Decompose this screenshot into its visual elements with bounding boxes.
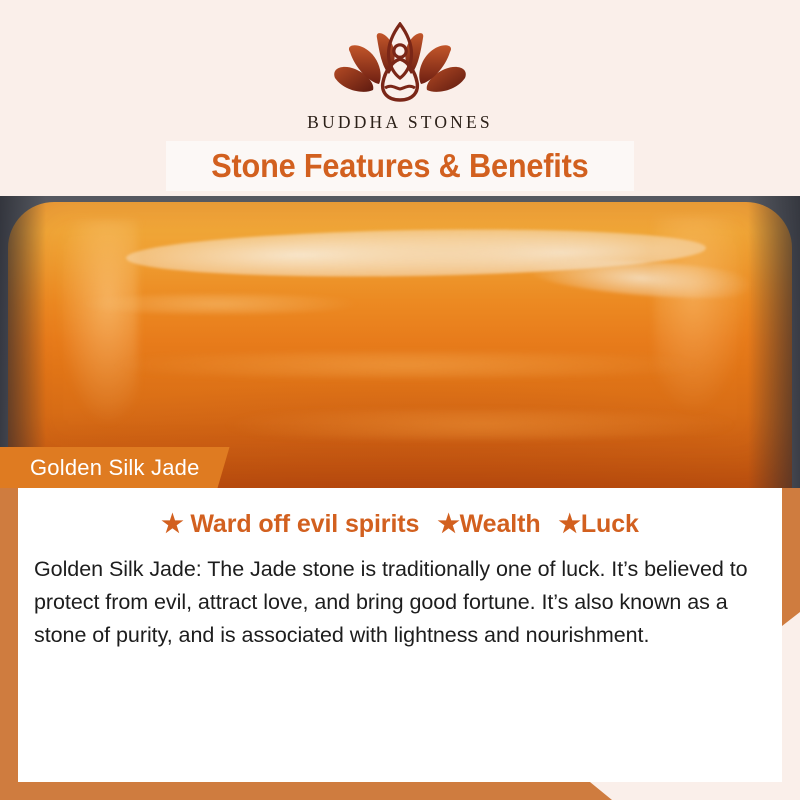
lotus-meditation-logo-icon: [325, 22, 475, 108]
infographic-page: BUDDHA STONES Stone Features & Benefits …: [0, 0, 800, 800]
frame-right-accent-tail: [782, 612, 800, 626]
stone-name-tag: Golden Silk Jade: [0, 447, 230, 488]
benefit-item-1: ★ Ward off evil spirits: [161, 510, 419, 539]
stone-photo: [0, 196, 800, 488]
stone-name-label: Golden Silk Jade: [30, 455, 200, 481]
benefit-item-2: ★Wealth: [437, 510, 540, 539]
benefit-label-2: Wealth: [460, 510, 541, 538]
star-icon: ★: [559, 510, 581, 538]
frame-bottom-accent: [0, 782, 800, 800]
stone-banding-lower: [128, 410, 768, 440]
stone-description: Golden Silk Jade: The Jade stone is trad…: [18, 539, 782, 652]
stone-banding-mid: [38, 352, 778, 378]
star-icon: ★: [437, 510, 459, 538]
photo-vignette-left: [0, 196, 46, 488]
title-banner: Stone Features & Benefits: [166, 141, 634, 191]
brand-name: BUDDHA STONES: [0, 112, 800, 133]
stone-body: [8, 202, 792, 488]
benefit-label-1: Ward off evil spirits: [190, 510, 419, 538]
benefit-item-3: ★Luck: [559, 510, 639, 539]
benefit-label-3: Luck: [581, 510, 639, 538]
photo-vignette-right: [748, 196, 800, 488]
star-icon: ★: [161, 510, 183, 538]
brand-logo: BUDDHA STONES: [0, 22, 800, 133]
stone-silk-streak-tertiary: [68, 294, 368, 314]
benefits-list: ★ Ward off evil spirits★Wealth★Luck: [18, 488, 782, 539]
page-title: Stone Features & Benefits: [211, 147, 588, 185]
content-panel: ★ Ward off evil spirits★Wealth★Luck Gold…: [18, 488, 782, 782]
